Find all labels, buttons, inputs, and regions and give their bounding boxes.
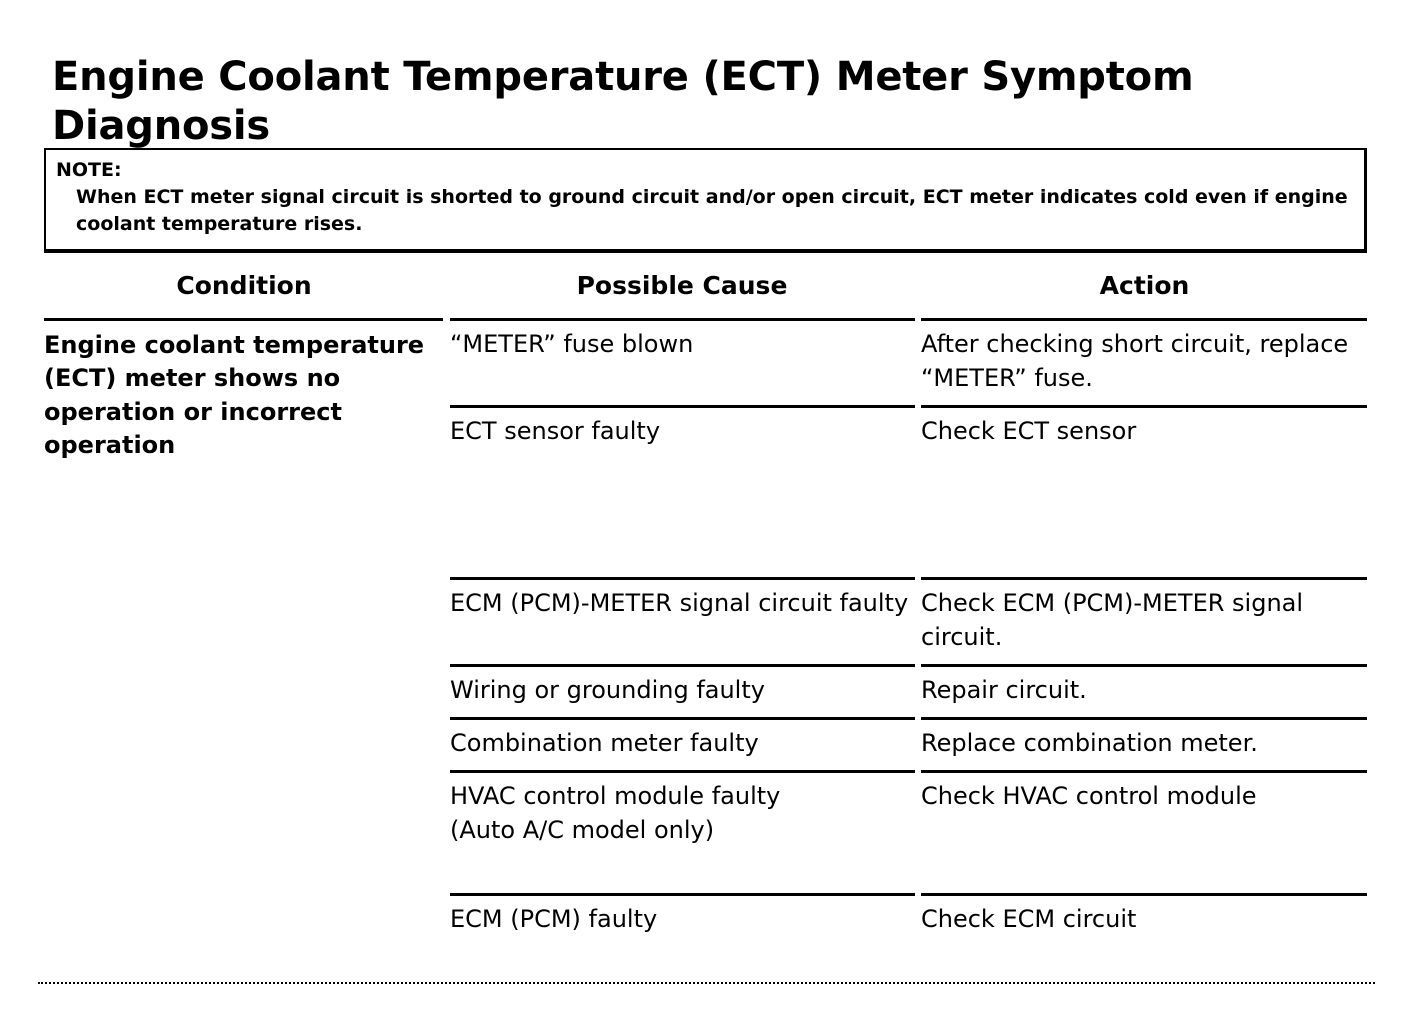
- note-label: NOTE:: [56, 158, 1354, 184]
- table-row: ECT sensor faulty Check ECT sensor: [450, 408, 1367, 580]
- cell-action: After checking short circuit, replace “M…: [921, 327, 1371, 395]
- cell-possible-cause: Combination meter faulty: [450, 726, 912, 760]
- document-page: Engine Coolant Temperature (ECT) Meter S…: [0, 0, 1408, 1024]
- cell-action: Check ECM (PCM)-METER signal circuit.: [921, 586, 1373, 654]
- note-text: When ECT meter signal circuit is shorted…: [56, 184, 1354, 239]
- table-row: HVAC control module faulty (Auto A/C mod…: [450, 773, 1367, 896]
- cause-action-rows: “METER” fuse blown After checking short …: [450, 321, 1367, 946]
- table-row: Wiring or grounding faulty Repair circui…: [450, 667, 1367, 720]
- table-body: Engine coolant temperature (ECT) meter s…: [44, 321, 1367, 946]
- cell-possible-cause: Wiring or grounding faulty: [450, 673, 912, 707]
- cell-action: Replace combination meter.: [921, 726, 1371, 760]
- cell-possible-cause: “METER” fuse blown: [450, 327, 912, 361]
- table-row: Combination meter faulty Replace combina…: [450, 720, 1367, 773]
- symptom-diagnosis-table: Condition Possible Cause Action Engine c…: [44, 272, 1367, 946]
- cell-possible-cause: ECT sensor faulty: [450, 414, 912, 448]
- cell-possible-cause: ECM (PCM) faulty: [450, 902, 912, 936]
- cell-action: Check ECT sensor: [921, 414, 1371, 448]
- table-header-row: Condition Possible Cause Action: [44, 272, 1367, 318]
- cell-action: Repair circuit.: [921, 673, 1371, 707]
- column-header-possible-cause: Possible Cause: [446, 272, 918, 300]
- table-row: ECM (PCM) faulty Check ECM circuit: [450, 896, 1367, 946]
- cell-action: Check HVAC control module: [921, 779, 1371, 813]
- footer-divider: [38, 982, 1375, 984]
- cell-action: Check ECM circuit: [921, 902, 1371, 936]
- column-header-action: Action: [922, 272, 1367, 300]
- cell-possible-cause: HVAC control module faulty (Auto A/C mod…: [450, 779, 850, 847]
- column-header-condition: Condition: [44, 272, 444, 300]
- condition-cell: Engine coolant temperature (ECT) meter s…: [44, 329, 444, 462]
- table-row: ECM (PCM)-METER signal circuit faulty Ch…: [450, 580, 1367, 667]
- cell-possible-cause: ECM (PCM)-METER signal circuit faulty: [450, 586, 912, 620]
- table-row: “METER” fuse blown After checking short …: [450, 321, 1367, 408]
- page-title: Engine Coolant Temperature (ECT) Meter S…: [52, 53, 1302, 151]
- note-box: NOTE: When ECT meter signal circuit is s…: [44, 148, 1367, 253]
